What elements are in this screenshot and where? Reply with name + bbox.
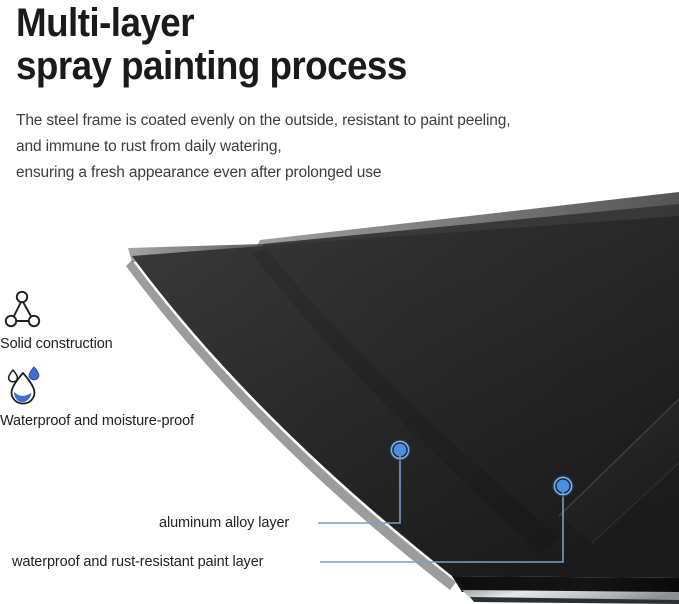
waterproof-icon (4, 365, 50, 409)
callout-label-waterproof-paint-layer: waterproof and rust-resistant paint laye… (12, 553, 263, 571)
description-line-3: ensuring a fresh appearance even after p… (16, 160, 656, 186)
page-title: Multi-layer spray painting process (16, 2, 656, 88)
description-text: The steel frame is coated evenly on the … (16, 108, 656, 186)
description-line-1: The steel frame is coated evenly on the … (16, 108, 656, 134)
description-line-2: and immune to rust from daily watering, (16, 134, 656, 160)
headline-line-1: Multi-layer (16, 2, 605, 45)
feature-solid-construction: Solid construction (4, 288, 264, 353)
callout-label-aluminum-alloy-layer: aluminum alloy layer (159, 514, 289, 532)
feature-waterproof: Waterproof and moisture-proof (4, 365, 264, 430)
infographic-page: Multi-layer spray painting process The s… (0, 0, 679, 604)
aluminum-bottom-edge (452, 576, 679, 604)
feature-waterproof-label: Waterproof and moisture-proof (0, 412, 264, 430)
solid-construction-icon (4, 288, 50, 332)
headline-line-2: spray painting process (16, 45, 605, 88)
feature-solid-construction-label: Solid construction (0, 335, 264, 353)
